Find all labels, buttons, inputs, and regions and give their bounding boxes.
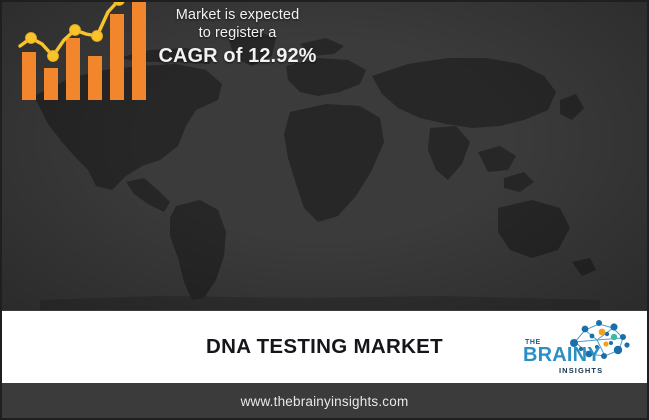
cagr-line-1: Market is expected (140, 6, 335, 24)
stat-block-market-value: The market was valued at USD 10.34 billi… (0, 152, 335, 302)
logo-insights-text: INSIGHTS (559, 366, 603, 375)
stat-block-region-share: 39.12% of the global market share was ac… (330, 0, 649, 110)
stat-block-cagr: Market is expected to register a CAGR of… (0, 0, 335, 110)
logo-brainy-text: BRAINY (523, 345, 601, 365)
cagr-line-2: to register a (140, 24, 335, 42)
bar-series (22, 0, 146, 100)
brand-logo[interactable]: THE BRAINY INSIGHTS (519, 316, 637, 378)
footer-band: DNA TESTING MARKET (0, 311, 649, 383)
website-url[interactable]: www.thebrainyinsights.com (241, 394, 409, 409)
infographic-canvas: Market is expected to register a CAGR of… (0, 0, 649, 420)
website-url-strip: www.thebrainyinsights.com (0, 383, 649, 420)
cagr-highlight: CAGR of 12.92% (140, 44, 335, 69)
growth-bars-line-chart (14, 0, 154, 100)
stat-block-segment: Based on the Technology segment, the PCR… (330, 152, 649, 302)
cagr-text-block: Market is expected to register a CAGR of… (140, 6, 335, 69)
